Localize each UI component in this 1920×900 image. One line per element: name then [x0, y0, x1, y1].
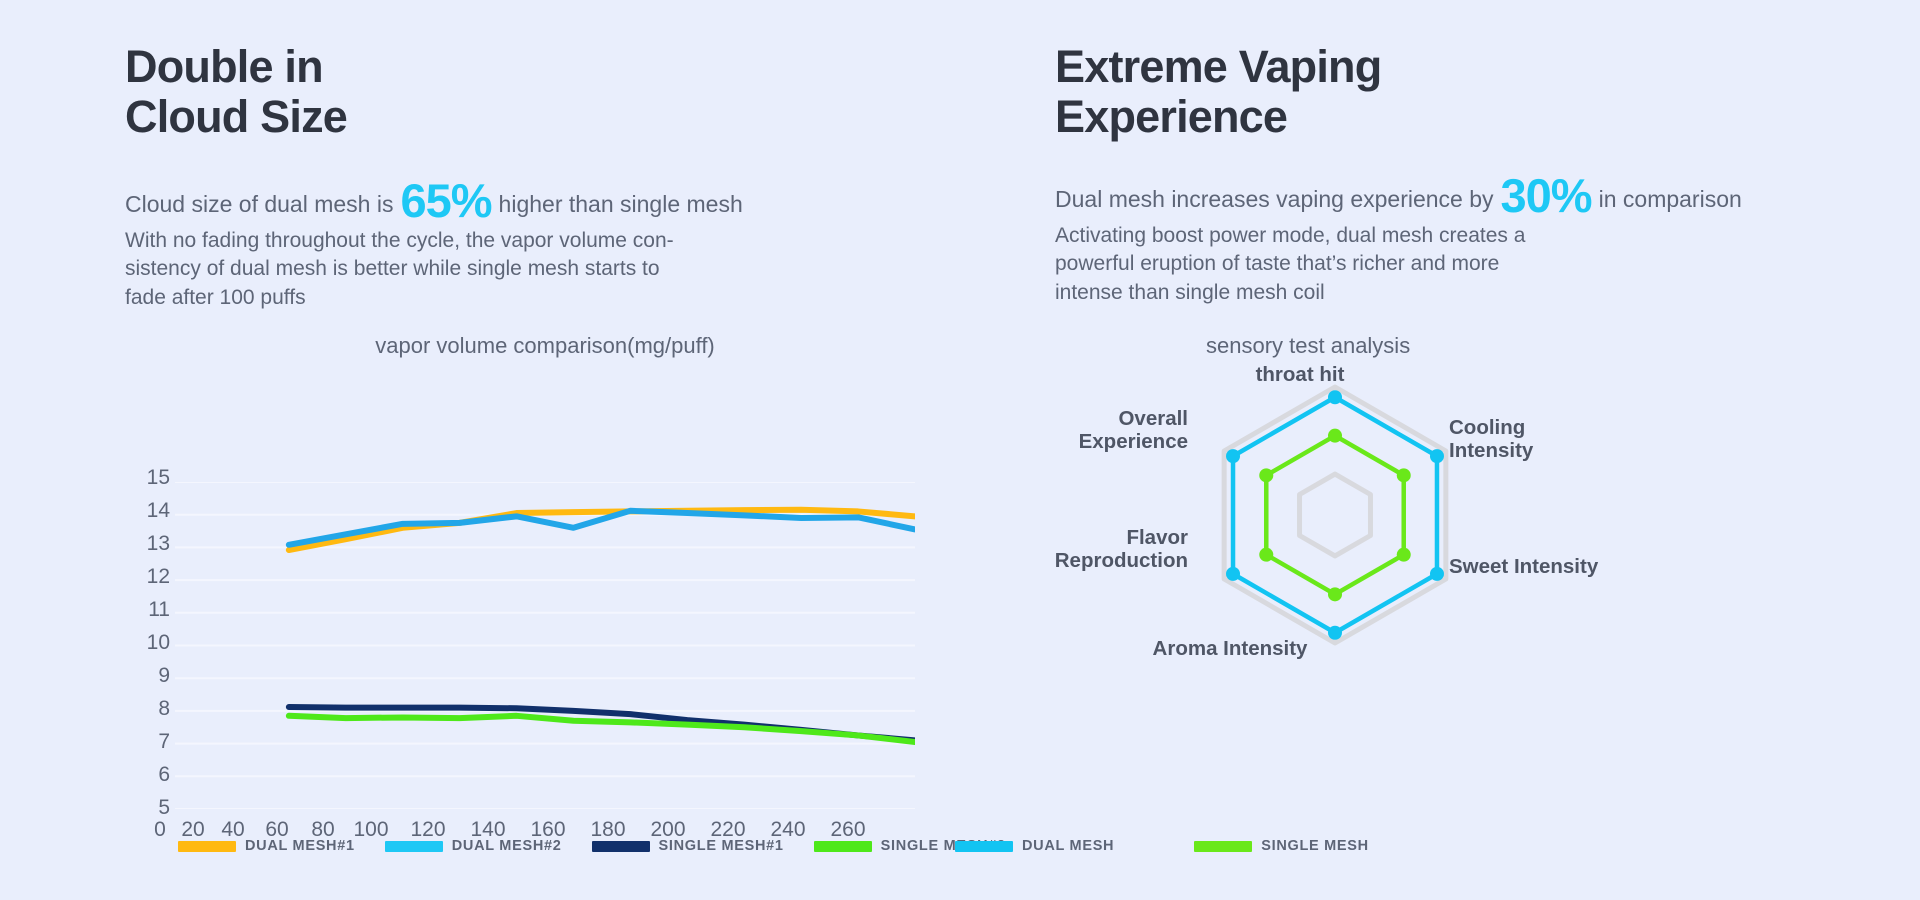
y-tick: 9 — [158, 664, 170, 688]
legend-swatch-dual-mesh-1 — [178, 841, 236, 852]
legend-item[interactable]: DUAL MESH — [955, 838, 1114, 854]
right-heading: Extreme Vaping Experience — [1055, 42, 1381, 143]
legend-label: DUAL MESH#1 — [245, 838, 355, 854]
y-tick: 14 — [147, 499, 170, 523]
line-chart-plot — [175, 482, 915, 809]
y-tick: 8 — [158, 697, 170, 721]
right-lead-before: Dual mesh increases vaping experience by — [1055, 186, 1494, 213]
legend-item[interactable]: SINGLE MESH — [1194, 838, 1369, 854]
radar-chart-title: sensory test analysis — [1206, 333, 1410, 359]
left-heading: Double in Cloud Size — [125, 42, 347, 143]
legend-item[interactable]: SINGLE MESH#1 — [592, 838, 784, 854]
legend-swatch-dual-mesh — [955, 841, 1013, 852]
radar-axis-label-overall-experience: Overall Experience — [1020, 408, 1188, 454]
x-tick: 0 — [154, 818, 166, 842]
y-tick: 10 — [147, 631, 170, 655]
legend-item[interactable]: DUAL MESH#1 — [178, 838, 355, 854]
right-lead-percent: 30% — [1501, 168, 1592, 223]
legend-swatch-single-mesh-2 — [814, 841, 872, 852]
y-tick: 11 — [148, 598, 170, 622]
line-chart-y-axis: 15 14 13 12 11 10 9 8 7 6 5 — [128, 470, 170, 820]
right-lead-after: in comparison — [1599, 186, 1742, 213]
right-panel: Extreme Vaping Experience Dual mesh incr… — [1020, 0, 1920, 900]
legend-label: SINGLE MESH — [1261, 838, 1369, 854]
left-lead-percent: 65% — [400, 173, 491, 228]
y-tick: 13 — [147, 532, 170, 556]
line-chart-title: vapor volume comparison(mg/puff) — [175, 333, 915, 359]
radar-axis-label-flavor-reproduction: Flavor Reproduction — [1020, 527, 1188, 573]
legend-label: DUAL MESH — [1022, 838, 1114, 854]
left-lead-line: Cloud size of dual mesh is 65% higher th… — [125, 168, 743, 223]
left-body-copy: With no fading throughout the cycle, the… — [125, 227, 765, 312]
legend-item[interactable]: DUAL MESH#2 — [385, 838, 562, 854]
y-tick: 12 — [147, 565, 170, 589]
infographic-page: Double in Cloud Size Cloud size of dual … — [0, 0, 1920, 900]
y-tick: 6 — [158, 763, 170, 787]
legend-label: DUAL MESH#2 — [452, 838, 562, 854]
radar-chart-legend: DUAL MESH SINGLE MESH — [955, 838, 1369, 854]
left-lead-before: Cloud size of dual mesh is — [125, 191, 393, 218]
y-tick: 5 — [158, 796, 170, 820]
left-lead-after: higher than single mesh — [499, 191, 743, 218]
right-body-copy: Activating boost power mode, dual mesh c… — [1055, 222, 1615, 307]
legend-swatch-single-mesh-1 — [592, 841, 650, 852]
right-lead-line: Dual mesh increases vaping experience by… — [1055, 163, 1742, 218]
y-tick: 7 — [158, 730, 170, 754]
radar-chart-plot — [1190, 380, 1480, 650]
legend-swatch-dual-mesh-2 — [385, 841, 443, 852]
left-panel: Double in Cloud Size Cloud size of dual … — [0, 0, 1020, 900]
legend-swatch-single-mesh — [1194, 841, 1252, 852]
y-tick: 15 — [147, 466, 170, 490]
line-chart-legend: DUAL MESH#1 DUAL MESH#2 SINGLE MESH#1 SI… — [178, 838, 1006, 854]
legend-label: SINGLE MESH#1 — [659, 838, 784, 854]
